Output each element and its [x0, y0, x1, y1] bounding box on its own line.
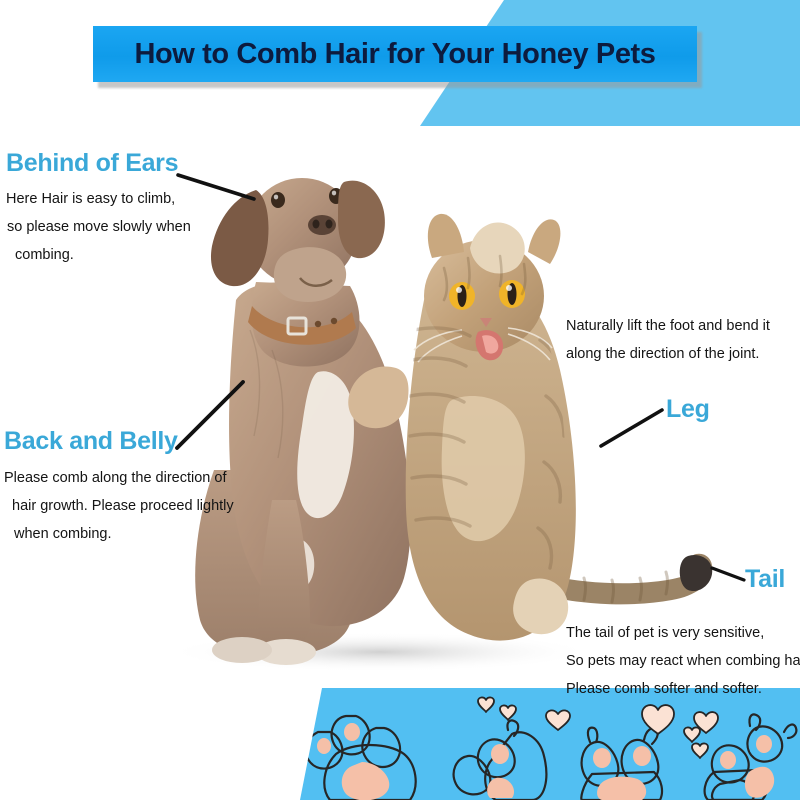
annotation-line: when combing. [4, 521, 234, 549]
annotation-body-tail: The tail of pet is very sensitive, So pe… [566, 620, 800, 704]
dog-ear-left [211, 190, 269, 286]
annotation-leg: Leg [666, 396, 710, 422]
annotation-line: along the direction of the joint. [566, 341, 770, 369]
ground-shadow [165, 632, 595, 672]
dog-photo [195, 178, 410, 665]
annotation-heading-back-and-belly: Back and Belly [4, 428, 234, 454]
annotation-heading-behind-of-ears: Behind of Ears [6, 150, 191, 176]
annotation-body-back-and-belly: Please comb along the direction of hair … [4, 465, 234, 549]
cat-front-paw [513, 578, 568, 634]
cat-ear-right [528, 219, 560, 264]
cat-eye-left [449, 282, 475, 310]
cat-eye-right [499, 280, 525, 308]
annotation-back-and-belly: Back and Belly Please comb along the dir… [4, 428, 234, 549]
annotation-line: The tail of pet is very sensitive, [566, 620, 800, 648]
annotation-body-behind-of-ears: Here Hair is easy to climb, so please mo… [6, 186, 191, 270]
cat-ear-left [428, 214, 464, 258]
cat-mouth [476, 330, 503, 360]
dog-collar [248, 306, 356, 345]
cat-photo [348, 214, 712, 641]
infographic-canvas: How to Comb Hair for Your Honey Pets [0, 0, 800, 800]
cat-raised-paw [348, 366, 408, 428]
page-title: How to Comb Hair for Your Honey Pets [134, 38, 655, 71]
leader-line-leg [601, 410, 662, 446]
annotation-line: Naturally lift the foot and bend it [566, 313, 770, 341]
annotation-line: So pets may react when combing hair, [566, 648, 800, 676]
annotation-heading-tail: Tail [745, 566, 785, 592]
annotation-foot-joint: Naturally lift the foot and bend it alon… [566, 313, 770, 369]
leader-line-tail [712, 568, 744, 580]
annotation-heading-leg: Leg [666, 396, 710, 422]
annotation-body-foot-joint: Naturally lift the foot and bend it alon… [566, 313, 770, 369]
annotation-line: combing. [6, 242, 191, 270]
dog-ear-right [338, 181, 385, 259]
annotation-tail-heading-wrap: Tail [745, 566, 785, 592]
annotation-tail-body-wrap: The tail of pet is very sensitive, So pe… [566, 620, 800, 704]
bottom-paw-banner [300, 688, 800, 800]
annotation-line: Please comb along the direction of [4, 465, 234, 493]
annotation-line: so please move slowly when [6, 214, 191, 242]
annotation-behind-of-ears: Behind of Ears Here Hair is easy to clim… [6, 150, 191, 270]
title-bar: How to Comb Hair for Your Honey Pets [93, 26, 697, 82]
annotation-line: Please comb softer and softer. [566, 676, 800, 704]
cat-tail [546, 554, 712, 605]
annotation-line: hair growth. Please proceed lightly [4, 493, 234, 521]
annotation-line: Here Hair is easy to climb, [6, 186, 191, 214]
